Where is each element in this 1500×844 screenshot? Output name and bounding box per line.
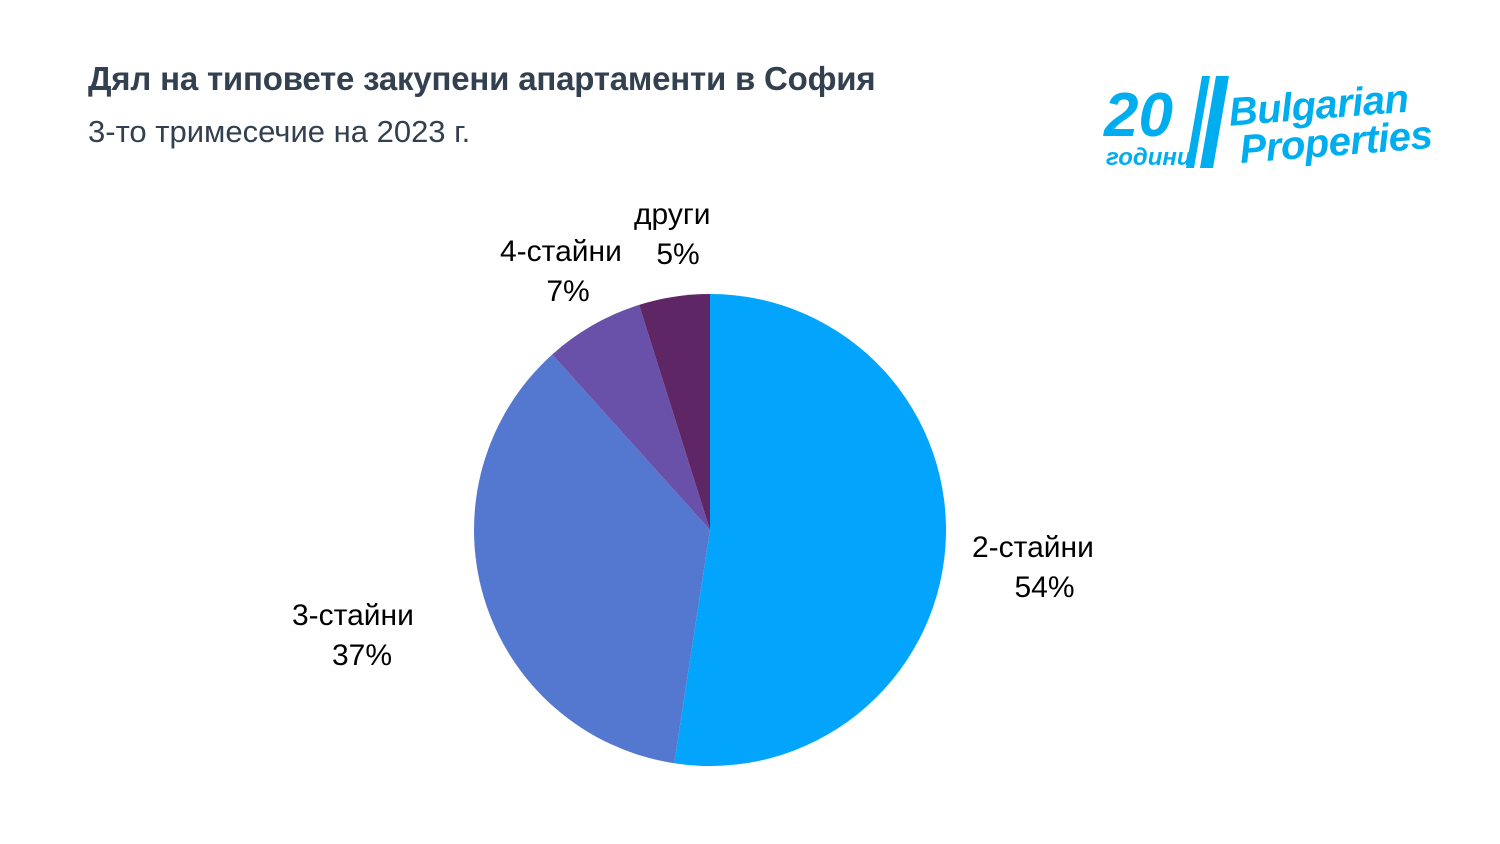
chart-canvas: Дял на типовете закупени апартаменти в С… (0, 0, 1500, 844)
slice-label-4-stayni-value: 7% (500, 272, 636, 312)
pie-slice-2[interactable] (474, 354, 710, 763)
logo-divider-icon (1186, 76, 1229, 168)
logo-number-text: 20 (1103, 81, 1173, 150)
slice-label-other: други 5% (634, 195, 722, 274)
slice-label-other-value: 5% (634, 235, 722, 275)
logo-years-text: години (1106, 144, 1192, 171)
slice-label-3-stayni-name: 3-стайни (292, 596, 432, 636)
slice-label-3-stayni-value: 37% (292, 636, 432, 676)
pie-slice-1[interactable] (674, 294, 946, 766)
pie-slice-4[interactable] (639, 294, 710, 530)
slice-label-3-stayni: 3-стайни 37% (292, 596, 432, 675)
pie-slice-3[interactable] (552, 305, 710, 530)
header: Дял на типовете закупени апартаменти в С… (88, 58, 1088, 153)
slice-label-2-stayni-value: 54% (972, 568, 1117, 608)
slice-label-4-stayni-name: 4-стайни (500, 232, 636, 272)
slice-label-other-name: други (634, 195, 722, 235)
page-title: Дял на типовете закупени апартаменти в С… (88, 58, 1088, 100)
logo-artwork: 20 години Bulgarian Properties (1098, 72, 1443, 177)
slice-label-4-stayni: 4-стайни 7% (500, 232, 636, 311)
bulgarian-properties-logo[interactable]: 20 години Bulgarian Properties (1098, 72, 1443, 177)
page-subtitle: 3-то тримесечие на 2023 г. (88, 112, 1088, 152)
slice-label-2-stayni: 2-стайни 54% (972, 528, 1117, 607)
slice-label-2-stayni-name: 2-стайни (972, 528, 1117, 568)
